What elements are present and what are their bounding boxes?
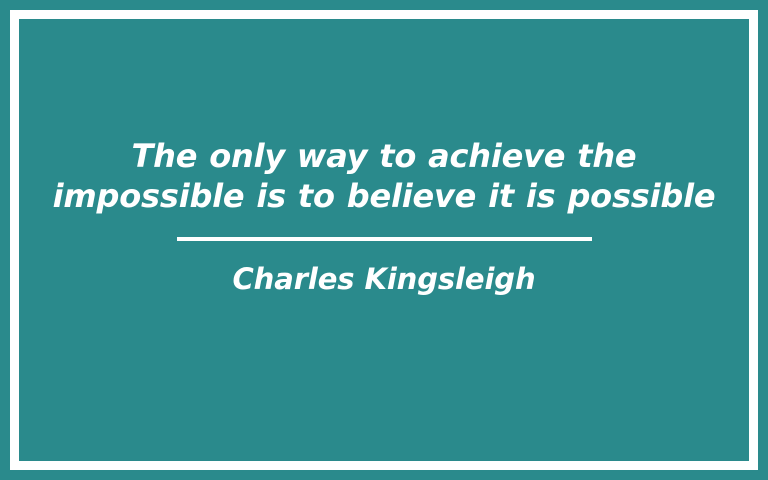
quote-card: The only way to achieve the impossible i… [0, 0, 768, 480]
quote-author: Charles Kingsleigh [233, 261, 536, 297]
quote-content-block: The only way to achieve the impossible i… [0, 136, 768, 297]
quote-divider [177, 237, 592, 241]
quote-text: The only way to achieve the impossible i… [34, 136, 734, 216]
